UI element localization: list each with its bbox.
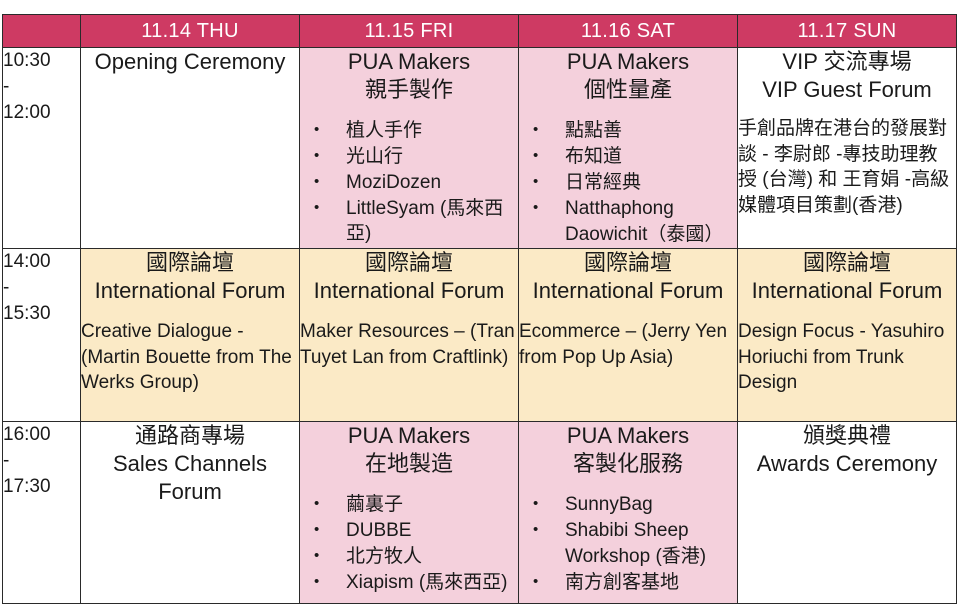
session-maker-list-r1c3: 點點善 布知道 日常經典 Natthaphong Daowichit（泰國） [519,118,737,247]
session-maker-list-r3c3: SunnyBag Shabibi Sheep Workshop (香港) 南方創… [519,492,737,595]
list-item: 南方創客基地 [519,570,737,595]
session-maker-list-r1c2: 植人手作 光山行 MoziDozen LittleSyam (馬來西亞) [300,118,518,246]
time-dash-2: - [3,275,80,301]
session-cell-r2c3: 國際論壇 International Forum Ecommerce – (Je… [519,249,738,422]
session-title-en-r3c4: Awards Ceremony [738,450,956,478]
header-cell-day-3: 11.16 SAT [519,15,738,48]
session-description-text-r1c4: 手創品牌在港台的發展對談 - 李尉郎 -專技助理教授 (台灣) 和 王育娟 -高… [738,116,956,218]
header-cell-day-4: 11.17 SUN [738,15,957,48]
header-label-day-1: 11.14 THU [81,16,299,46]
session-title-zh-r3c3: 客製化服務 [519,450,737,478]
session-description-text-r2c1: Creative Dialogue - (Martin Bouette from… [81,319,299,396]
list-item: 繭裏子 [300,492,518,517]
session-description-text-r2c3: Ecommerce – (Jerry Yen from Pop Up Asia) [519,319,737,370]
session-cell-r1c4: VIP 交流專場 VIP Guest Forum 手創品牌在港台的發展對談 - … [738,48,957,249]
session-cell-r2c1: 國際論壇 International Forum Creative Dialog… [81,249,300,422]
session-description-text-r2c2: Maker Resources – (Tran Tuyet Lan from C… [300,319,518,370]
table-row: 10:30 - 12:00 Opening Ceremony PUA Maker… [3,48,957,249]
list-item-continuation: Daowichit（泰國） [519,222,737,247]
session-cell-r1c1: Opening Ceremony [81,48,300,249]
session-title-zh-r2c1: 國際論壇 [81,249,299,277]
list-item: Xiapism (馬來西亞) [300,570,518,595]
header-corner-cell [3,15,81,48]
table-row: 16:00 - 17:30 通路商專場 Sales Channels Forum… [3,422,957,604]
time-dash-3: - [3,448,80,474]
session-title-en-r2c3: International Forum [519,277,737,305]
session-title-en-r3c2: PUA Makers [300,422,518,450]
session-cell-r2c4: 國際論壇 International Forum Design Focus - … [738,249,957,422]
session-title-en-r3c3: PUA Makers [519,422,737,450]
list-item: Natthaphong [519,196,737,221]
session-title-zh-r3c4: 頒獎典禮 [738,422,956,450]
list-item: LittleSyam (馬來西亞) [300,196,518,246]
session-title-zh-r2c3: 國際論壇 [519,249,737,277]
session-cell-r3c1: 通路商專場 Sales Channels Forum [81,422,300,604]
list-item: 植人手作 [300,118,518,143]
header-label-day-4: 11.17 SUN [738,16,956,46]
list-item-continuation: Workshop (香港) [519,544,737,569]
session-cell-r1c3: PUA Makers 個性量產 點點善 布知道 日常經典 Natthaphong… [519,48,738,249]
session-title-zh-r1c3: 個性量產 [519,76,737,104]
schedule-table-container: 11.14 THU 11.15 FRI 11.16 SAT 11.17 SUN … [2,14,956,604]
time-start-3: 16:00 [3,422,80,448]
list-item: Shabibi Sheep [519,518,737,543]
session-cell-r1c2: PUA Makers 親手製作 植人手作 光山行 MoziDozen Littl… [300,48,519,249]
session-title-en-r1c3: PUA Makers [519,48,737,76]
list-item: 日常經典 [519,170,737,195]
time-slot-cell-1: 10:30 - 12:00 [3,48,81,249]
list-item: MoziDozen [300,170,518,195]
session-title-en-r3c1: Sales Channels Forum [81,450,299,506]
session-title-en-r1c2: PUA Makers [300,48,518,76]
time-end-2: 15:30 [3,301,80,327]
table-header-row: 11.14 THU 11.15 FRI 11.16 SAT 11.17 SUN [3,15,957,48]
session-title-zh-r2c4: 國際論壇 [738,249,956,277]
list-item: 光山行 [300,144,518,169]
list-item: 點點善 [519,118,737,143]
header-label-day-3: 11.16 SAT [519,16,737,46]
session-description-text-r2c4: Design Focus - Yasuhiro Horiuchi from Tr… [738,319,956,396]
session-description-r2c4: Design Focus - Yasuhiro Horiuchi from Tr… [738,319,956,396]
session-description-r2c3: Ecommerce – (Jerry Yen from Pop Up Asia) [519,319,737,370]
event-schedule-table: 11.14 THU 11.15 FRI 11.16 SAT 11.17 SUN … [2,14,957,604]
session-title-zh-r1c4: VIP 交流專場 [738,48,956,76]
session-cell-r3c4: 頒獎典禮 Awards Ceremony [738,422,957,604]
list-item: 北方牧人 [300,544,518,569]
time-start-2: 14:00 [3,249,80,275]
time-slot-cell-2: 14:00 - 15:30 [3,249,81,422]
session-description-r2c2: Maker Resources – (Tran Tuyet Lan from C… [300,319,518,370]
time-start-1: 10:30 [3,48,80,74]
time-end-3: 17:30 [3,474,80,500]
time-dash-1: - [3,74,80,100]
list-item: 布知道 [519,144,737,169]
session-cell-r2c2: 國際論壇 International Forum Maker Resources… [300,249,519,422]
session-title-en-r1c4: VIP Guest Forum [738,76,956,104]
session-maker-list-r3c2: 繭裏子 DUBBE 北方牧人 Xiapism (馬來西亞) [300,492,518,595]
session-title-zh-r2c2: 國際論壇 [300,249,518,277]
session-title-en-r2c2: International Forum [300,277,518,305]
header-label-day-2: 11.15 FRI [300,16,518,46]
session-title-zh-r3c1: 通路商專場 [81,422,299,450]
time-slot-cell-3: 16:00 - 17:30 [3,422,81,604]
header-cell-day-2: 11.15 FRI [300,15,519,48]
session-description-r1c4: 手創品牌在港台的發展對談 - 李尉郎 -專技助理教授 (台灣) 和 王育娟 -高… [738,116,956,218]
session-title-en-r2c4: International Forum [738,277,956,305]
session-title-zh-r1c2: 親手製作 [300,76,518,104]
session-title-zh-r3c2: 在地製造 [300,450,518,478]
table-row: 14:00 - 15:30 國際論壇 International Forum C… [3,249,957,422]
session-description-r2c1: Creative Dialogue - (Martin Bouette from… [81,319,299,396]
list-item: DUBBE [300,518,518,543]
header-cell-day-1: 11.14 THU [81,15,300,48]
session-title-en-r1c1: Opening Ceremony [81,48,299,76]
session-title-en-r2c1: International Forum [81,277,299,305]
session-cell-r3c2: PUA Makers 在地製造 繭裏子 DUBBE 北方牧人 Xiapism (… [300,422,519,604]
session-cell-r3c3: PUA Makers 客製化服務 SunnyBag Shabibi Sheep … [519,422,738,604]
list-item: SunnyBag [519,492,737,517]
time-end-1: 12:00 [3,100,80,126]
